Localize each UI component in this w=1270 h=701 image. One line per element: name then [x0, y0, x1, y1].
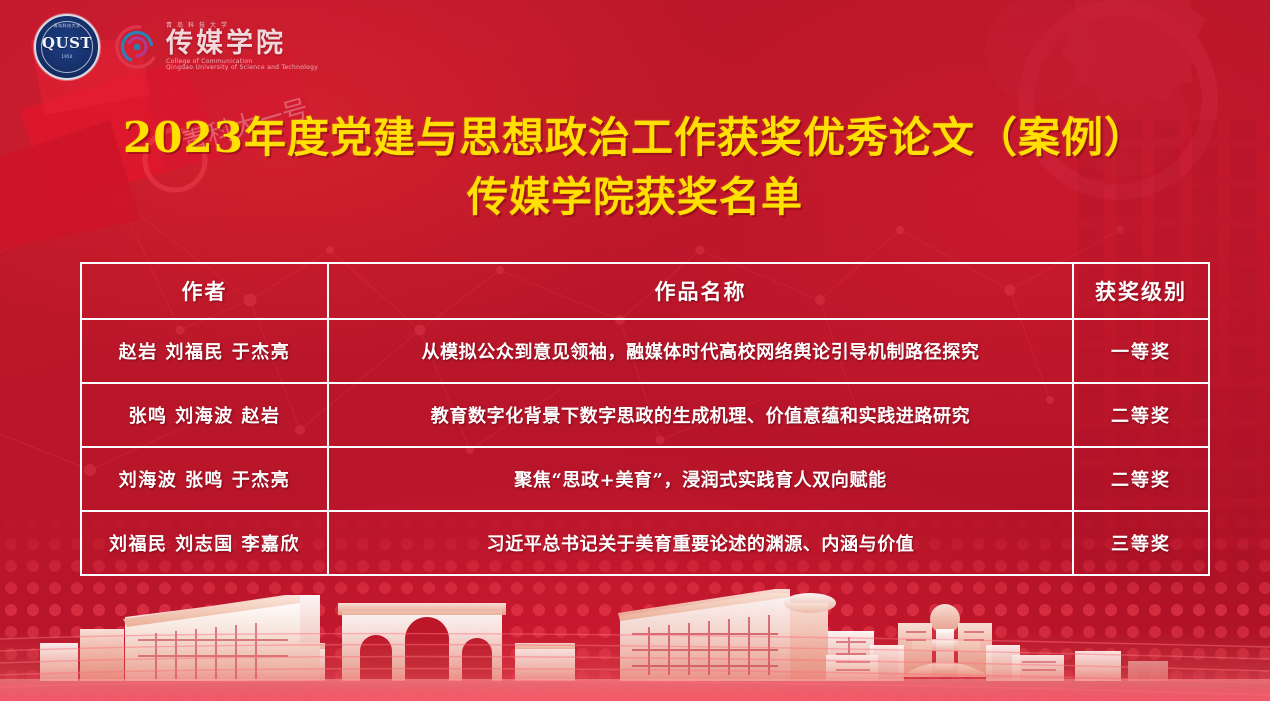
- table-row: 刘福民 刘志国 李嘉欣 习近平总书记关于美育重要论述的渊源、内涵与价值 三等奖: [81, 511, 1209, 575]
- header-logos: 青岛科技大学 QUST 1950 青岛科技大学 传媒学院 College of …: [34, 14, 318, 80]
- poster-canvas: 青科大一号: [0, 0, 1270, 701]
- college-of-communication-logo: 青岛科技大学 传媒学院 College of Communication Qin…: [114, 23, 318, 71]
- college-en-line2: Qingdao University of Science and Techno…: [166, 65, 318, 71]
- seal-year: 1950: [62, 54, 73, 59]
- column-header-work-title: 作品名称: [328, 263, 1073, 319]
- college-name-cn: 传媒学院: [166, 30, 318, 57]
- seal-abbr: QUST: [42, 36, 92, 51]
- poster-title-line2: 传媒学院获奖名单: [0, 168, 1270, 226]
- cell-work-title: 教育数字化背景下数字思政的生成机理、价值意蕴和实践进路研究: [328, 383, 1073, 447]
- table-header-row: 作者 作品名称 获奖级别: [81, 263, 1209, 319]
- poster-title-line1: 2023年度党建与思想政治工作获奖优秀论文（案例）: [0, 108, 1270, 168]
- cell-author: 赵岩 刘福民 于杰亮: [81, 319, 328, 383]
- column-header-author: 作者: [81, 263, 328, 319]
- table-row: 赵岩 刘福民 于杰亮 从模拟公众到意见领袖，融媒体时代高校网络舆论引导机制路径探…: [81, 319, 1209, 383]
- college-logo-text: 青岛科技大学 传媒学院 College of Communication Qin…: [166, 23, 318, 71]
- cell-author: 刘福民 刘志国 李嘉欣: [81, 511, 328, 575]
- table-row: 张鸣 刘海波 赵岩 教育数字化背景下数字思政的生成机理、价值意蕴和实践进路研究 …: [81, 383, 1209, 447]
- cell-award-level: 一等奖: [1073, 319, 1209, 383]
- swirl-icon: [114, 24, 160, 70]
- college-name-en: College of Communication Qingdao Univers…: [166, 59, 318, 71]
- column-header-award-level: 获奖级别: [1073, 263, 1209, 319]
- cell-work-title: 聚焦“思政+美育”，浸润式实践育人双向赋能: [328, 447, 1073, 511]
- cell-award-level: 二等奖: [1073, 447, 1209, 511]
- cell-author: 刘海波 张鸣 于杰亮: [81, 447, 328, 511]
- seal-ring-top-text: 青岛科技大学: [54, 23, 81, 29]
- cell-work-title: 从模拟公众到意见领袖，融媒体时代高校网络舆论引导机制路径探究: [328, 319, 1073, 383]
- light-streaks-decor: [0, 621, 1270, 701]
- award-table-container: 作者 作品名称 获奖级别 赵岩 刘福民 于杰亮 从模拟公众到意见领袖，融媒体时代…: [80, 262, 1208, 576]
- award-table: 作者 作品名称 获奖级别 赵岩 刘福民 于杰亮 从模拟公众到意见领袖，融媒体时代…: [80, 262, 1210, 576]
- poster-title-block: 2023年度党建与思想政治工作获奖优秀论文（案例） 传媒学院获奖名单: [0, 108, 1270, 226]
- cell-author: 张鸣 刘海波 赵岩: [81, 383, 328, 447]
- cell-award-level: 二等奖: [1073, 383, 1209, 447]
- cell-award-level: 三等奖: [1073, 511, 1209, 575]
- table-row: 刘海波 张鸣 于杰亮 聚焦“思政+美育”，浸润式实践育人双向赋能 二等奖: [81, 447, 1209, 511]
- cell-work-title: 习近平总书记关于美育重要论述的渊源、内涵与价值: [328, 511, 1073, 575]
- bottom-glow-decor: [0, 631, 1270, 701]
- qust-seal-logo: 青岛科技大学 QUST 1950: [34, 14, 100, 80]
